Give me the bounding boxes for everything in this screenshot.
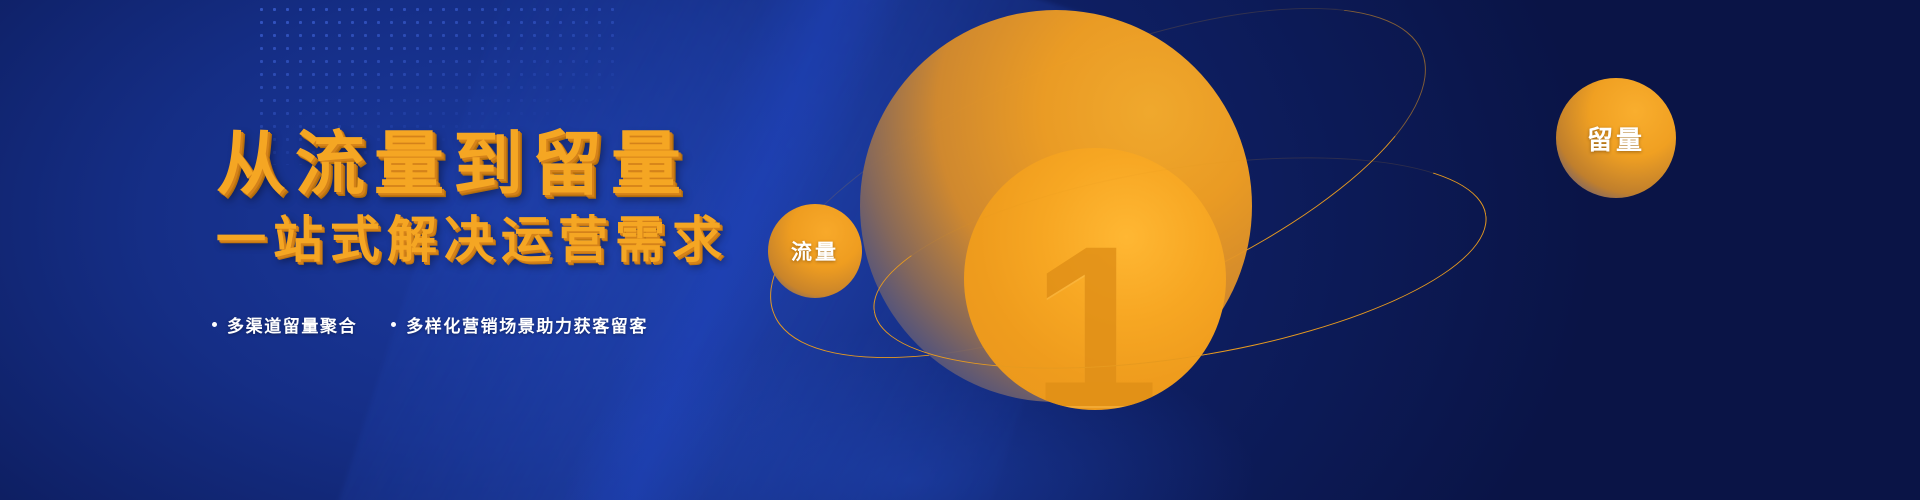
bubble-retention: 留量 — [1556, 78, 1676, 198]
feature-item-2-label: 多样化营销场景助力获客留客 — [406, 312, 648, 337]
feature-item-1: 多渠道留量聚合 — [212, 312, 357, 337]
banner-feature-list: 多渠道留量聚合 多样化营销场景助力获客留客 — [212, 312, 648, 337]
bubble-traffic-label: 流量 — [791, 236, 839, 266]
feature-item-1-label: 多渠道留量聚合 — [227, 312, 357, 337]
promo-banner: 从流量到留量 一站式解决运营需求 多渠道留量聚合 多样化营销场景助力获客留客 1… — [0, 0, 1920, 500]
banner-headline: 从流量到留量 — [216, 108, 690, 209]
bubble-retention-label: 留量 — [1587, 120, 1645, 157]
banner-illustration: 1 流量 留量 — [700, 0, 1920, 500]
banner-copy: 从流量到留量 一站式解决运营需求 多渠道留量聚合 多样化营销场景助力获客留客 — [0, 0, 760, 500]
feature-item-2: 多样化营销场景助力获客留客 — [391, 312, 648, 337]
bullet-dot-icon — [391, 322, 396, 327]
bubble-traffic: 流量 — [768, 204, 862, 298]
bullet-dot-icon — [212, 322, 217, 327]
banner-subheadline: 一站式解决运营需求 — [216, 200, 729, 272]
